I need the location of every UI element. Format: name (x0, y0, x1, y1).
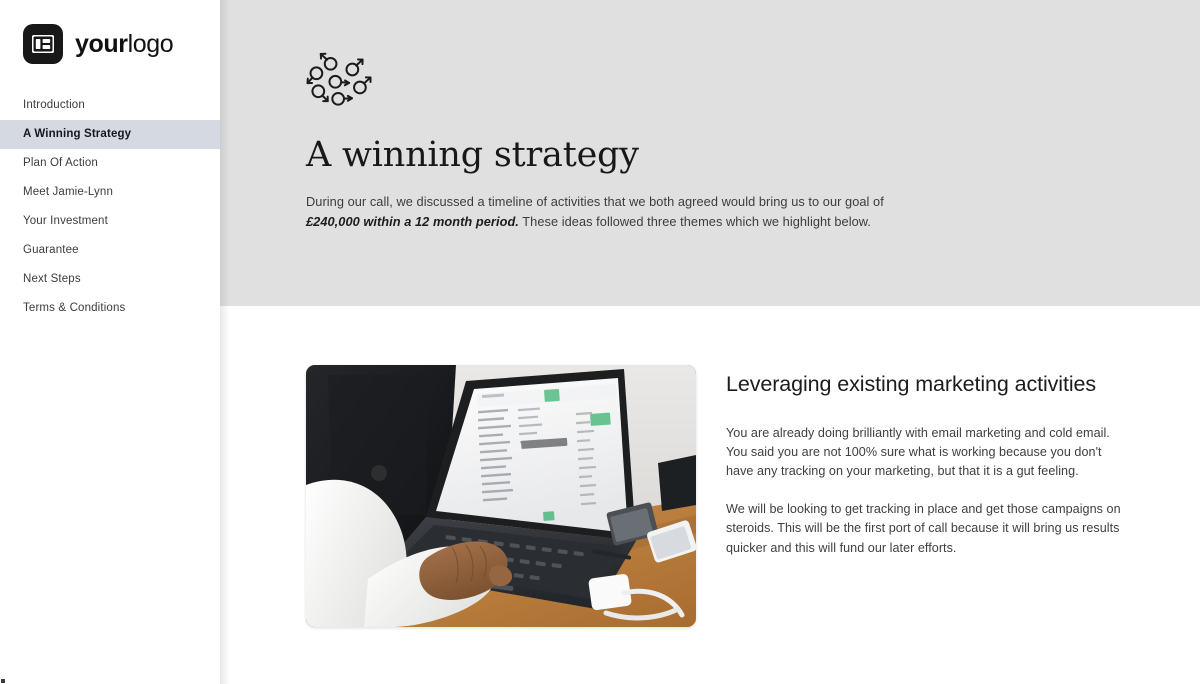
sidebar-item-meet-jamie-lynn[interactable]: Meet Jamie-Lynn (0, 178, 220, 207)
scattered-arrows-icon (306, 48, 376, 108)
content-text-block: Leveraging existing marketing activities… (726, 365, 1122, 558)
hero-paragraph: During our call, we discussed a timeline… (306, 192, 886, 232)
brand-logo[interactable]: yourlogo (0, 0, 220, 64)
brand-name-light: logo (128, 30, 174, 58)
content-paragraph-2: We will be looking to get tracking in pl… (726, 500, 1122, 557)
corner-marker (1, 679, 5, 683)
layout-panel-icon (23, 24, 63, 64)
hero-paragraph-part2: These ideas followed three themes which … (519, 214, 871, 229)
sidebar-item-guarantee[interactable]: Guarantee (0, 236, 220, 265)
sidebar-item-introduction[interactable]: Introduction (0, 91, 220, 120)
sidebar-navigation: yourlogo Introduction A Winning Strategy… (0, 0, 220, 684)
hero-paragraph-emphasis: £240,000 within a 12 month period. (306, 214, 519, 229)
sidebar-item-a-winning-strategy[interactable]: A Winning Strategy (0, 120, 220, 149)
page-title: A winning strategy (306, 137, 1200, 174)
sidebar-item-your-investment[interactable]: Your Investment (0, 207, 220, 236)
proposal-page: yourlogo Introduction A Winning Strategy… (0, 0, 1200, 684)
hero-paragraph-part1: During our call, we discussed a timeline… (306, 194, 884, 209)
laptop-spreadsheet-photo (306, 365, 696, 627)
sidebar-item-plan-of-action[interactable]: Plan Of Action (0, 149, 220, 178)
content-paragraph-1: You are already doing brilliantly with e… (726, 424, 1122, 481)
sidebar-item-next-steps[interactable]: Next Steps (0, 265, 220, 294)
sidebar-item-terms-and-conditions[interactable]: Terms & Conditions (0, 294, 220, 323)
section-nav: Introduction A Winning Strategy Plan Of … (0, 91, 220, 323)
content-section: Leveraging existing marketing activities… (220, 306, 1200, 684)
hero-section: A winning strategy During our call, we d… (220, 0, 1200, 306)
brand-name-strong: your (75, 30, 128, 58)
brand-wordmark: yourlogo (75, 32, 173, 57)
content-heading: Leveraging existing marketing activities (726, 367, 1122, 402)
